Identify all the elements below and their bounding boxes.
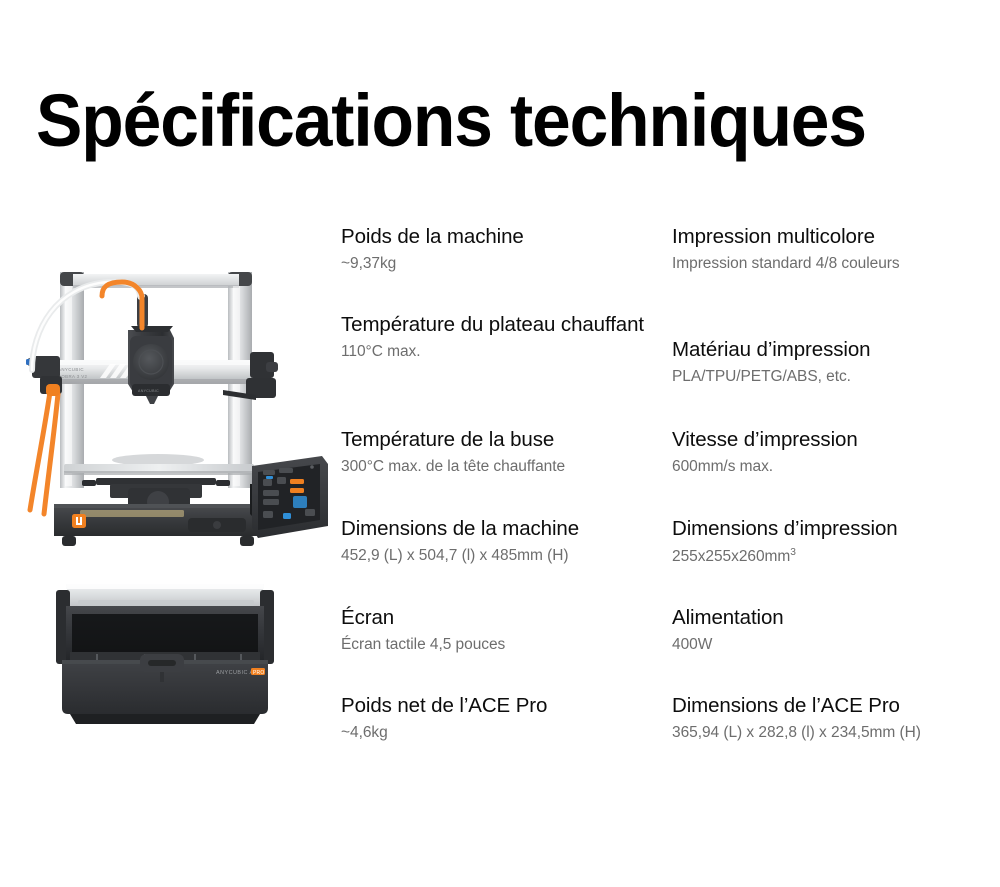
ace-pro-lid — [66, 584, 264, 607]
spec-value: Impression standard 4/8 couleurs — [672, 254, 1000, 274]
spec-label: Vitesse d’impression — [672, 427, 1000, 452]
spec-value: 110°C max. — [341, 342, 671, 362]
spec-value: 365,94 (L) x 282,8 (l) x 234,5mm (H) — [672, 723, 1000, 743]
spec-label: Alimentation — [672, 605, 1000, 630]
spec-label: Dimensions de l’ACE Pro — [672, 693, 1000, 718]
spec-value: 400W — [672, 635, 1000, 655]
spec-label: Poids net de l’ACE Pro — [341, 693, 671, 718]
spec-value: ~4,6kg — [341, 723, 671, 743]
ace-pro-spool-bay — [66, 606, 264, 662]
specifications-page: Spécifications techniques — [0, 0, 1000, 887]
spec-value: 255x255x260mm3 — [672, 546, 1000, 567]
spec-item-print-material: Matériau d’impression PLA/TPU/PETG/ABS, … — [672, 337, 1000, 387]
printer-brand-text: ANYCUBIC — [58, 367, 84, 372]
printer-model-text: KOBRA 3 V2 — [58, 374, 88, 379]
spec-value: PLA/TPU/PETG/ABS, etc. — [672, 367, 1000, 387]
spec-item-ace-pro-weight: Poids net de l’ACE Pro ~4,6kg — [341, 693, 671, 743]
spec-item-nozzle-temperature: Température de la buse 300°C max. de la … — [341, 427, 671, 477]
touchscreen-panel — [250, 456, 328, 538]
spec-item-print-dimensions: Dimensions d’impression 255x255x260mm3 — [672, 516, 1000, 567]
spec-item-machine-weight: Poids de la machine ~9,37kg — [341, 224, 671, 274]
spec-item-print-speed: Vitesse d’impression 600mm/s max. — [672, 427, 1000, 477]
spec-item-power-supply: Alimentation 400W — [672, 605, 1000, 655]
spec-item-bed-temperature: Température du plateau chauffant 110°C m… — [341, 312, 671, 362]
ace-pro-front-panel: ANYCUBIC ACE PRO — [62, 654, 268, 714]
spec-value: 600mm/s max. — [672, 457, 1000, 477]
spec-value: ~9,37kg — [341, 254, 671, 274]
spec-item-ace-pro-dimensions: Dimensions de l’ACE Pro 365,94 (L) x 282… — [672, 693, 1000, 743]
spec-label: Poids de la machine — [341, 224, 671, 249]
spec-value: 452,9 (L) x 504,7 (l) x 485mm (H) — [341, 546, 671, 566]
spec-label: Dimensions d’impression — [672, 516, 1000, 541]
spec-label: Impression multicolore — [672, 224, 1000, 249]
spec-value: 300°C max. de la tête chauffante — [341, 457, 671, 477]
spec-value-superscript: 3 — [790, 547, 796, 558]
spec-value: Écran tactile 4,5 pouces — [341, 635, 671, 655]
spec-label: Température de la buse — [341, 427, 671, 452]
spec-item-multicolor-printing: Impression multicolore Impression standa… — [672, 224, 1000, 274]
svg-text:PRO: PRO — [253, 670, 264, 676]
spec-label: Température du plateau chauffant — [341, 312, 671, 337]
spec-label: Matériau d’impression — [672, 337, 1000, 362]
spec-item-machine-dimensions: Dimensions de la machine 452,9 (L) x 504… — [341, 516, 671, 566]
anycubic-logo-badge — [72, 514, 86, 528]
ace-pro-illustration: ANYCUBIC ACE PRO — [48, 562, 283, 752]
spec-label: Dimensions de la machine — [341, 516, 671, 541]
ace-pro-base — [70, 714, 260, 724]
spec-value-text: 255x255x260mm — [672, 548, 790, 565]
spec-label: Écran — [341, 605, 671, 630]
page-title: Spécifications techniques — [36, 84, 920, 158]
spec-item-screen: Écran Écran tactile 4,5 pouces — [341, 605, 671, 655]
printer-illustration: ANYCUBIC KOBRA 3 V2 — [18, 252, 328, 552]
svg-text:ANYCUBIC: ANYCUBIC — [138, 389, 159, 393]
print-head: ANYCUBIC — [128, 294, 174, 404]
printer-base — [54, 504, 262, 546]
